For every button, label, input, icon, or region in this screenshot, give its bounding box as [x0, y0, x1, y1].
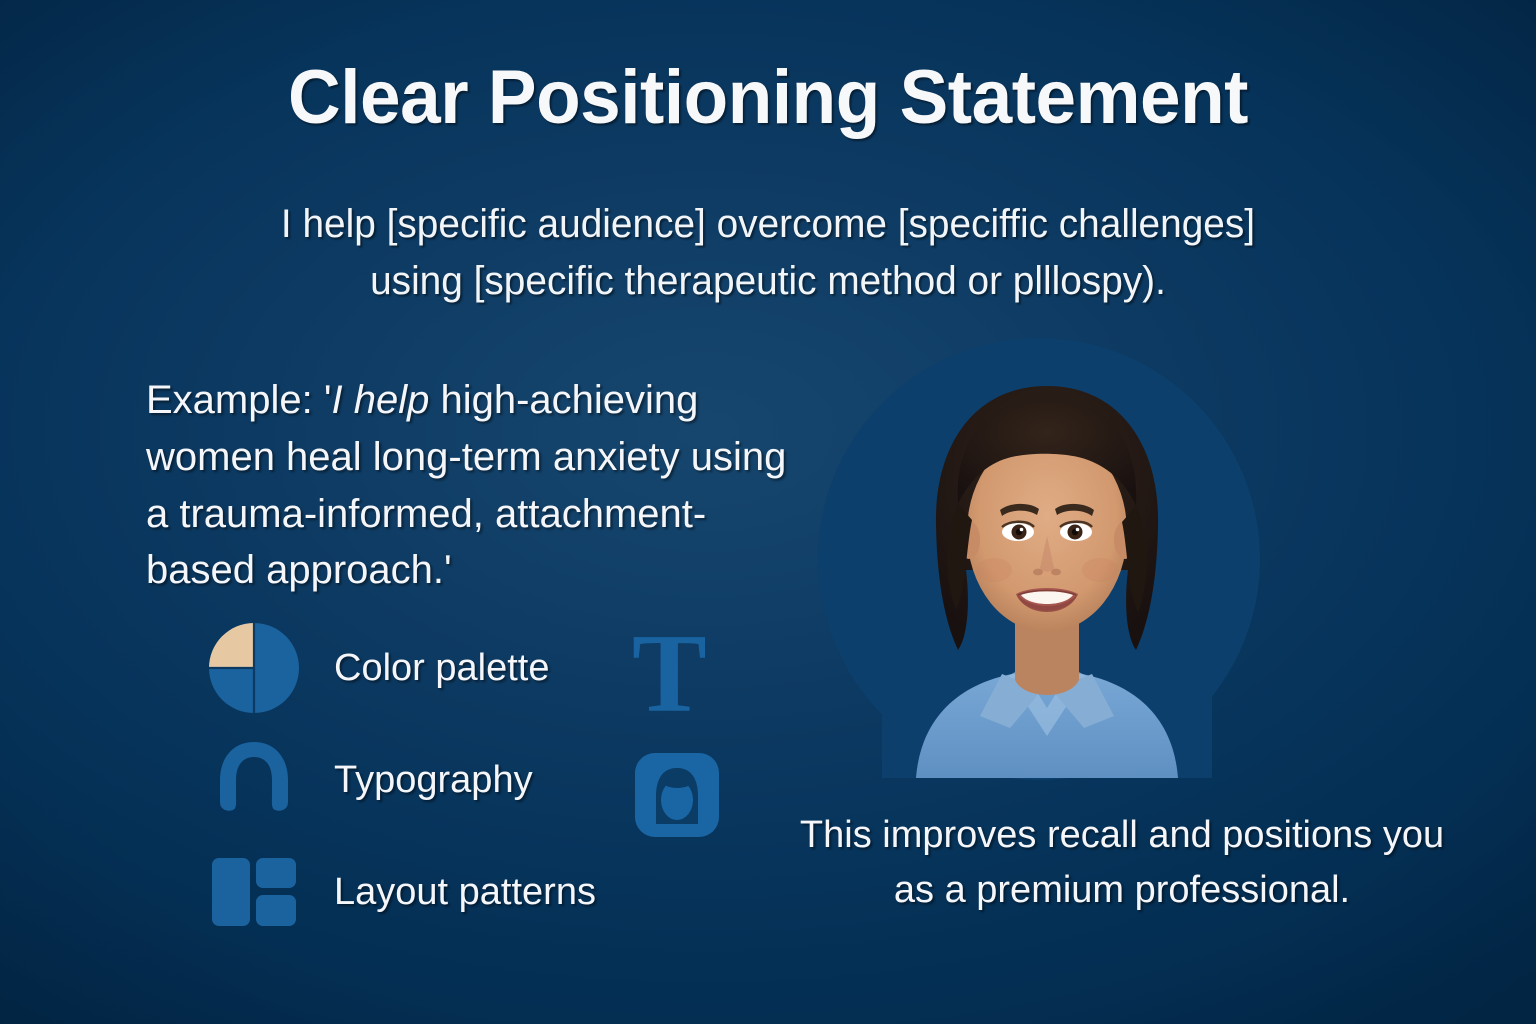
benefit-caption: This improves recall and positions you a… — [782, 808, 1462, 918]
list-item-label: Layout patterns — [334, 871, 596, 914]
headshot-image — [882, 364, 1212, 778]
list-item-label: Typography — [334, 759, 533, 802]
pie-chart-icon — [206, 620, 310, 716]
list-item-label: Color palette — [334, 647, 549, 690]
positioning-formula-text: I help [specific audience] overcome [spe… — [235, 196, 1302, 310]
avatar-square-icon — [634, 752, 720, 838]
grid-layout-icon — [206, 844, 310, 940]
example-lead: Example: ' — [146, 378, 332, 422]
list-item-layout-patterns[interactable]: Layout patterns — [206, 836, 726, 948]
arch-letterform-icon — [206, 732, 310, 828]
example-statement: Example: 'I help high-achieving women he… — [146, 372, 806, 599]
serif-t-glyph-icon: T — [632, 618, 707, 730]
page-title: Clear Positioning Statement — [31, 58, 1506, 138]
slide-canvas: Clear Positioning Statement I help [spec… — [0, 0, 1536, 1024]
example-italic-phrase: I help — [332, 378, 430, 422]
portrait-photo — [818, 338, 1260, 780]
